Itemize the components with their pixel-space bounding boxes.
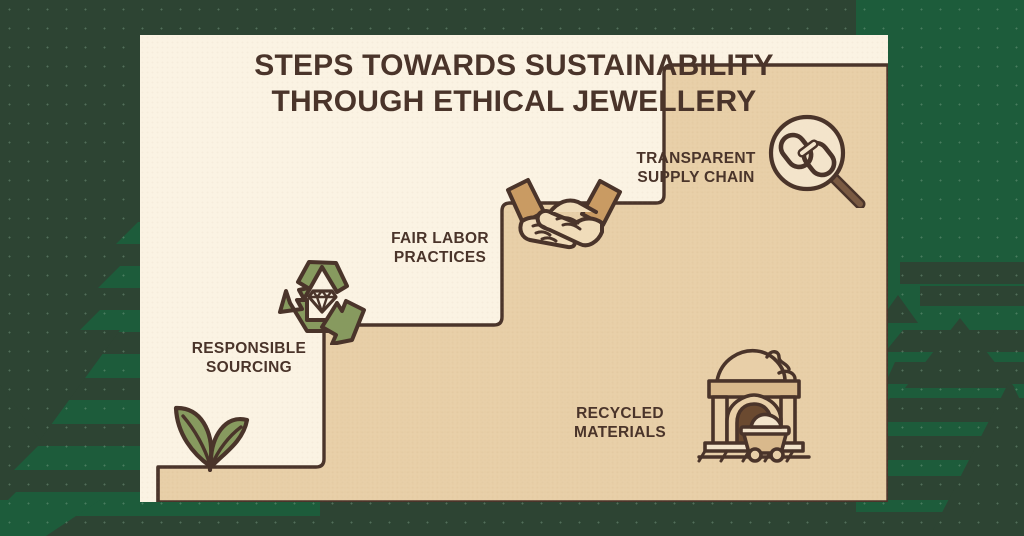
mine-entrance-cart-icon xyxy=(695,343,813,463)
step-label-fair-labor-practices: FAIR LABOR PRACTICES xyxy=(366,229,514,267)
seedling-plant-icon xyxy=(163,388,259,472)
page-title: STEPS TOWARDS SUSTAINABILITY THROUGH ETH… xyxy=(140,48,888,120)
recycle-diamond-icon xyxy=(276,257,369,345)
poster-canvas: STEPS TOWARDS SUSTAINABILITY THROUGH ETH… xyxy=(0,0,1024,536)
handshake-icon xyxy=(502,168,626,250)
magnifier-chain-link-icon xyxy=(766,112,868,208)
step-label-transparent-supply-chain: TRANSPARENT SUPPLY CHAIN xyxy=(612,149,780,187)
step-label-recycled-materials: RECYCLED MATERIALS xyxy=(545,404,695,442)
